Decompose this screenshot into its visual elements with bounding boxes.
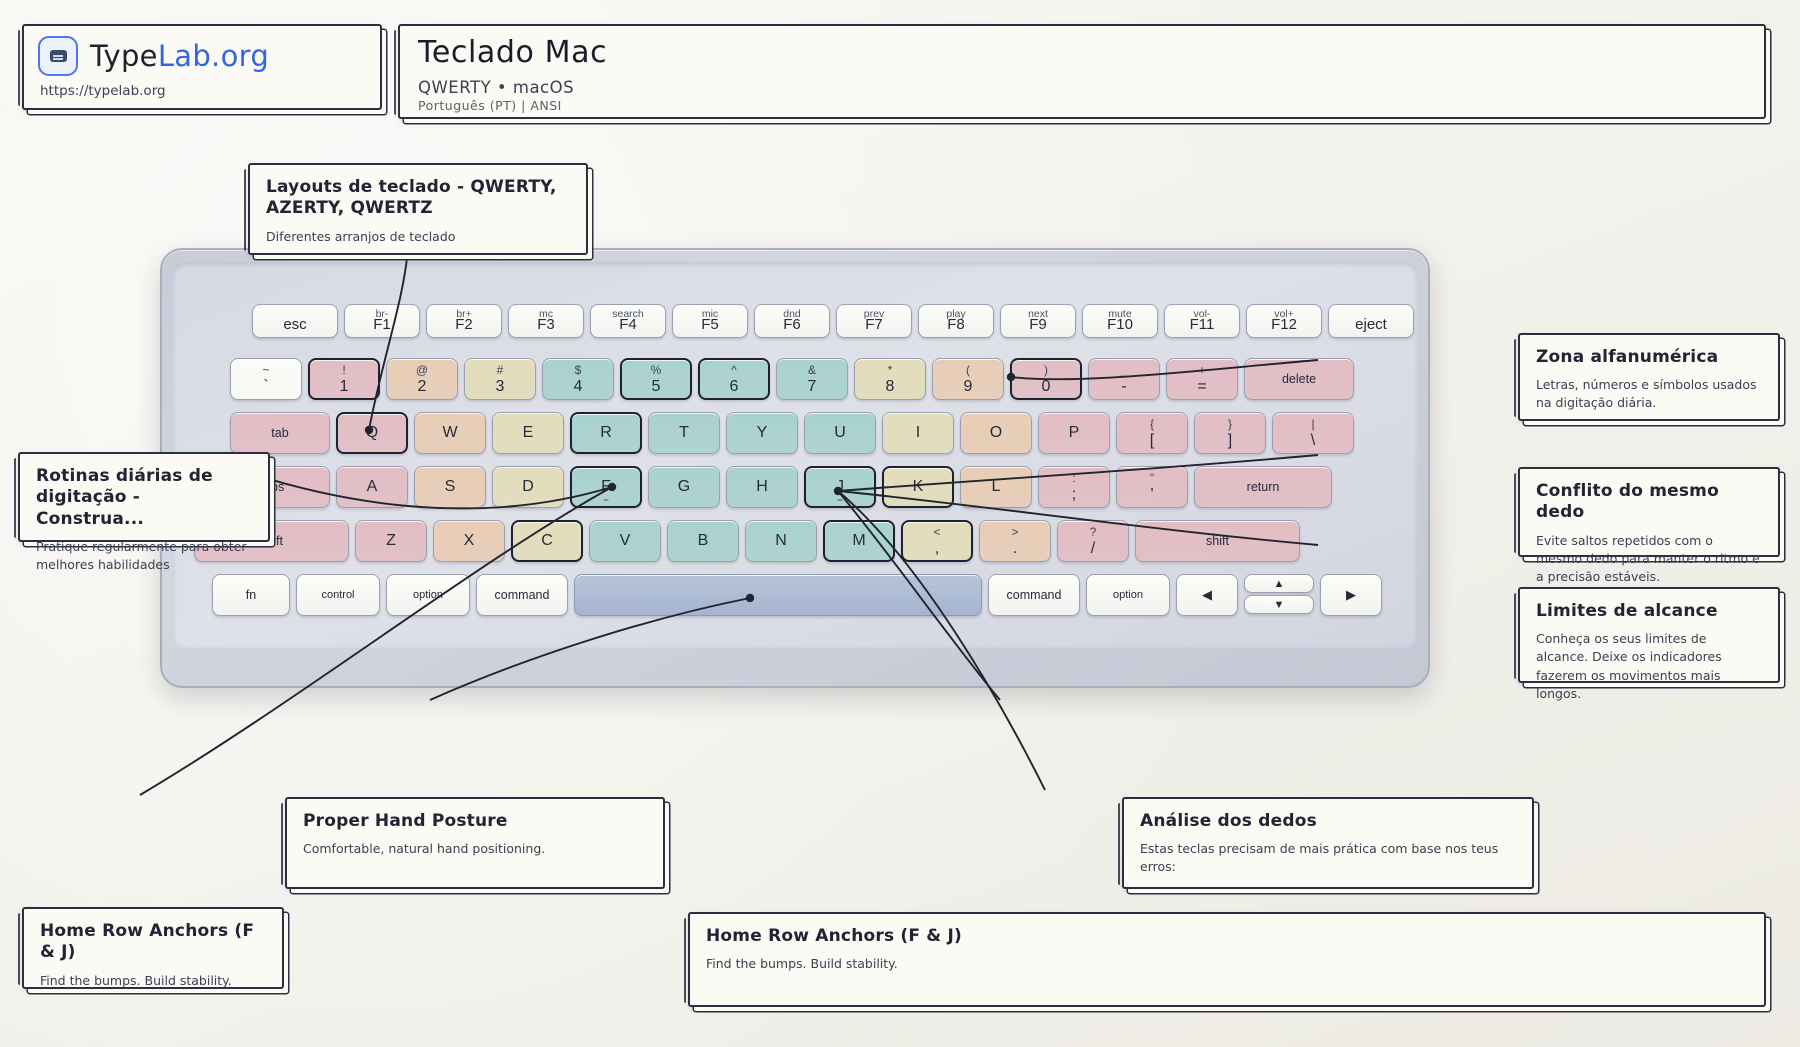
callout-analise: Análise dos dedos Estas teclas precisam …	[1122, 797, 1534, 889]
key--[interactable]: |\	[1272, 412, 1354, 454]
key-y[interactable]: Y	[726, 412, 798, 454]
keyboard-deck: escbr-F1br+F2mcF3searchF4micF5dndF6prevF…	[172, 262, 1418, 648]
key-legend-upper: #	[497, 364, 504, 376]
callout-posture: Proper Hand Posture Comfortable, natural…	[285, 797, 665, 889]
key-legend: J	[836, 478, 844, 496]
brand-name-accent: Lab.org	[158, 39, 269, 73]
key-legend: M	[852, 532, 865, 550]
key-legend: H	[756, 478, 768, 496]
fkey-f8[interactable]: playF8	[918, 304, 994, 338]
callout-zona: Zona alfanumérica Letras, números e símb…	[1518, 333, 1780, 421]
callout-conflito: Conflito do mesmo dedo Evite saltos repe…	[1518, 467, 1780, 557]
brand-url[interactable]: https://typelab.org	[40, 83, 366, 99]
callout-title: Layouts de teclado - QWERTY, AZERTY, QWE…	[266, 177, 570, 220]
key-2[interactable]: @2	[386, 358, 458, 400]
key-legend: F	[601, 478, 611, 496]
key--[interactable]: <,	[901, 520, 973, 562]
arrow-up-icon[interactable]: ▲	[1244, 574, 1314, 593]
key-legend-lower: .	[1013, 541, 1017, 557]
key-8[interactable]: *8	[854, 358, 926, 400]
callout-title: Limites de alcance	[1536, 601, 1762, 622]
header-card: Teclado Mac QWERTY • macOS Português (PT…	[398, 24, 1766, 119]
callout-title: Zona alfanumérica	[1536, 347, 1762, 368]
key-legend-lower: `	[263, 379, 268, 395]
fkey-function-label: mute	[1083, 308, 1157, 320]
key-legend-upper: (	[966, 364, 970, 376]
fkey-function-label: br+	[427, 308, 501, 320]
callout-body: Find the bumps. Build stability.	[706, 955, 1748, 973]
key-legend-upper: *	[888, 364, 893, 376]
key-n[interactable]: N	[745, 520, 817, 562]
key-l[interactable]: L	[960, 466, 1032, 508]
key-legend: command	[1007, 588, 1062, 602]
key-x[interactable]: X	[433, 520, 505, 562]
key-legend-upper: _	[1121, 364, 1128, 376]
key-d[interactable]: D	[492, 466, 564, 508]
fkey-esc[interactable]: esc	[252, 304, 338, 338]
key-r[interactable]: R	[570, 412, 642, 454]
key-legend-upper: )	[1044, 364, 1048, 376]
key-legend-lower: 4	[574, 379, 583, 395]
key-legend-upper: }	[1228, 418, 1232, 430]
key--[interactable]: "'	[1116, 466, 1188, 508]
key-legend-lower: =	[1197, 379, 1206, 395]
brand-name-dark: Type	[90, 39, 158, 73]
key-legend: I	[916, 424, 920, 442]
key-f[interactable]: F	[570, 466, 642, 508]
fkey-function-label: play	[919, 308, 993, 320]
poster-canvas: TypeLab.org https://typelab.org Teclado …	[0, 0, 1800, 1047]
function-key-row: escbr-F1br+F2mcF3searchF4micF5dndF6prevF…	[172, 304, 1420, 338]
key-legend-upper: ~	[262, 364, 269, 376]
key-c[interactable]: C	[511, 520, 583, 562]
fkey-function-label: dnd	[755, 308, 829, 320]
key-legend-upper: :	[1072, 472, 1075, 484]
key-v[interactable]: V	[589, 520, 661, 562]
brand-card: TypeLab.org https://typelab.org	[22, 24, 382, 110]
key-legend-lower: '	[1150, 487, 1153, 503]
key-legend-lower: \	[1311, 433, 1315, 449]
key-legend: N	[775, 532, 787, 550]
key-9[interactable]: (9	[932, 358, 1004, 400]
key-legend: B	[698, 532, 709, 550]
key-legend-upper: %	[651, 364, 662, 376]
key-legend-lower: 7	[808, 379, 817, 395]
key-legend: O	[990, 424, 1002, 442]
key-legend-lower: -	[1121, 379, 1126, 395]
key-t[interactable]: T	[648, 412, 720, 454]
key-legend: G	[678, 478, 690, 496]
callout-layouts: Layouts de teclado - QWERTY, AZERTY, QWE…	[248, 163, 588, 255]
shift-key-row: shiftZXCVBNM<,>.?/shift	[172, 520, 1306, 562]
key-w[interactable]: W	[414, 412, 486, 454]
fkey-f2[interactable]: br+F2	[426, 304, 502, 338]
key-legend: K	[913, 478, 924, 496]
key-legend: command	[495, 588, 550, 602]
key-7[interactable]: &7	[776, 358, 848, 400]
callout-body: Find the bumps. Build stability.	[40, 972, 266, 990]
key-legend: ▼	[1274, 599, 1285, 611]
key-shift[interactable]: shift	[1135, 520, 1300, 562]
key-0[interactable]: )0	[1010, 358, 1082, 400]
key-5[interactable]: %5	[620, 358, 692, 400]
fkey-function-label: mc	[509, 308, 583, 320]
key-legend: fn	[246, 588, 256, 602]
key-legend-upper: >	[1011, 526, 1018, 538]
key-s[interactable]: S	[414, 466, 486, 508]
key-legend-lower: 1	[340, 379, 349, 395]
key-legend: E	[523, 424, 534, 442]
key-h[interactable]: H	[726, 466, 798, 508]
fkey-label: esc	[283, 316, 306, 333]
key-legend-upper: $	[575, 364, 582, 376]
key-legend: R	[600, 424, 612, 442]
key-legend: P	[1069, 424, 1080, 442]
key-1[interactable]: !1	[308, 358, 380, 400]
header-subtitle: QWERTY • macOS	[418, 78, 1746, 97]
arrow-cluster-vertical: ▲▼	[1244, 574, 1314, 616]
fkey-function-label: vol+	[1247, 308, 1321, 320]
key-legend: W	[442, 424, 457, 442]
callout-body: Diferentes arranjos de teclado	[266, 228, 570, 246]
key-legend-upper: @	[416, 364, 428, 376]
key-legend-lower: [	[1150, 433, 1154, 449]
key-legend-lower: ,	[935, 541, 939, 557]
home-key-row: capsASDFGHJKL:;"'return	[172, 466, 1338, 508]
key-p[interactable]: P	[1038, 412, 1110, 454]
header-meta: Português (PT) | ANSI	[418, 98, 1746, 113]
key-u[interactable]: U	[804, 412, 876, 454]
keyboard-key-icon	[38, 36, 78, 76]
key-return[interactable]: return	[1194, 466, 1332, 508]
key-legend: delete	[1282, 372, 1316, 386]
key--[interactable]: ~`	[230, 358, 302, 400]
key-legend: ▶	[1346, 587, 1356, 603]
key-legend: control	[321, 589, 354, 601]
key-legend: D	[522, 478, 534, 496]
key-legend: V	[620, 532, 631, 550]
fkey-function-label: br-	[345, 308, 419, 320]
key-legend: option	[413, 589, 443, 601]
key-a[interactable]: A	[336, 466, 408, 508]
key-g[interactable]: G	[648, 466, 720, 508]
key-legend: S	[445, 478, 456, 496]
number-key-row: ~`!1@2#3$4%5^6&7*8(9)0_-+=delete	[172, 358, 1360, 400]
key-o[interactable]: O	[960, 412, 1032, 454]
key-option[interactable]: option	[1086, 574, 1170, 616]
key-legend-lower: ;	[1072, 487, 1076, 503]
callout-title: Conflito do mesmo dedo	[1536, 481, 1762, 524]
key-option[interactable]: option	[386, 574, 470, 616]
callout-title: Proper Hand Posture	[303, 811, 647, 832]
key-legend: ▲	[1274, 578, 1285, 590]
fkey-function-label: search	[591, 308, 665, 320]
key-legend: C	[541, 532, 553, 550]
key-b[interactable]: B	[667, 520, 739, 562]
keyboard-chassis: escbr-F1br+F2mcF3searchF4micF5dndF6prevF…	[160, 248, 1430, 688]
key-legend: Q	[366, 424, 378, 442]
fkey-f9[interactable]: nextF9	[1000, 304, 1076, 338]
arrow-down-icon[interactable]: ▼	[1244, 595, 1314, 614]
key-legend-lower: /	[1091, 541, 1095, 557]
key--[interactable]: :;	[1038, 466, 1110, 508]
key-legend-upper: "	[1150, 472, 1154, 484]
key-legend: option	[1113, 589, 1143, 601]
key-legend: Z	[386, 532, 396, 550]
key-legend-lower: 8	[886, 379, 895, 395]
callout-anchors-left: Home Row Anchors (F & J) Find the bumps.…	[22, 907, 284, 989]
key-legend-upper: &	[808, 364, 816, 376]
fkey-function-label: next	[1001, 308, 1075, 320]
fkey-f6[interactable]: dndF6	[754, 304, 830, 338]
key-legend-upper: ?	[1090, 526, 1097, 538]
key-legend-upper: ^	[731, 364, 737, 376]
home-row-bump	[604, 499, 609, 501]
callout-body: Conheça os seus limites de alcance. Deix…	[1536, 630, 1762, 703]
key-z[interactable]: Z	[355, 520, 427, 562]
key--[interactable]: ?/	[1057, 520, 1129, 562]
page-title: Teclado Mac	[418, 35, 1746, 70]
key-3[interactable]: #3	[464, 358, 536, 400]
callout-title: Home Row Anchors (F & J)	[706, 926, 1748, 947]
key-4[interactable]: $4	[542, 358, 614, 400]
fkey-f7[interactable]: prevF7	[836, 304, 912, 338]
key-e[interactable]: E	[492, 412, 564, 454]
key-legend: L	[992, 478, 1001, 496]
callout-title: Home Row Anchors (F & J)	[40, 921, 266, 964]
key-legend: T	[679, 424, 689, 442]
key-legend-lower: 9	[964, 379, 973, 395]
arrow-right-icon[interactable]: ▶	[1320, 574, 1382, 616]
key-k[interactable]: K	[882, 466, 954, 508]
key-legend-lower: 6	[730, 379, 739, 395]
key-m[interactable]: M	[823, 520, 895, 562]
key-legend: shift	[1206, 534, 1229, 548]
key--[interactable]: {[	[1116, 412, 1188, 454]
key-legend-upper: +	[1198, 364, 1205, 376]
key-legend-lower: 2	[418, 379, 427, 395]
callout-body: Evite saltos repetidos com o mesmo dedo …	[1536, 532, 1762, 586]
key-j[interactable]: J	[804, 466, 876, 508]
key-legend-upper: {	[1150, 418, 1154, 430]
fkey-function-label: vol-	[1165, 308, 1239, 320]
key-legend-lower: ]	[1228, 433, 1232, 449]
callout-body: Estas teclas precisam de mais prática co…	[1140, 840, 1516, 876]
callout-body: Letras, números e símbolos usados na dig…	[1536, 376, 1762, 412]
key-fn[interactable]: fn	[212, 574, 290, 616]
fkey-f4[interactable]: searchF4	[590, 304, 666, 338]
key-6[interactable]: ^6	[698, 358, 770, 400]
key-delete[interactable]: delete	[1244, 358, 1354, 400]
fkey-f12[interactable]: vol+F12	[1246, 304, 1322, 338]
fkey-eject[interactable]: eject	[1328, 304, 1414, 338]
key-space[interactable]	[574, 574, 982, 616]
fkey-f3[interactable]: mcF3	[508, 304, 584, 338]
key-legend: X	[464, 532, 475, 550]
key-legend: ◀	[1202, 587, 1212, 603]
key-legend: U	[834, 424, 846, 442]
callout-body: Pratique regularmente para obter melhore…	[36, 538, 252, 574]
fkey-f5[interactable]: micF5	[672, 304, 748, 338]
key--[interactable]: ◀	[1176, 574, 1238, 616]
key-legend-lower: 0	[1042, 379, 1051, 395]
key-legend-upper: !	[342, 364, 345, 376]
callout-body: Comfortable, natural hand positioning.	[303, 840, 647, 858]
key--[interactable]: }]	[1194, 412, 1266, 454]
fkey-f1[interactable]: br-F1	[344, 304, 420, 338]
key-legend-lower: 5	[652, 379, 661, 395]
fkey-f10[interactable]: muteF10	[1082, 304, 1158, 338]
callout-anchors-bottom: Home Row Anchors (F & J) Find the bumps.…	[688, 912, 1766, 1007]
top-letter-row: tabQWERTYUIOP{[}]|\	[172, 412, 1360, 454]
brand-name: TypeLab.org	[90, 39, 269, 73]
key-tab[interactable]: tab	[230, 412, 330, 454]
key-command[interactable]: command	[476, 574, 568, 616]
fkey-f11[interactable]: vol-F11	[1164, 304, 1240, 338]
key-legend-lower: 3	[496, 379, 505, 395]
fkey-function-label: mic	[673, 308, 747, 320]
fkey-function-label: prev	[837, 308, 911, 320]
key-i[interactable]: I	[882, 412, 954, 454]
fkey-label: eject	[1355, 316, 1387, 333]
key--[interactable]: >.	[979, 520, 1051, 562]
callout-limites: Limites de alcance Conheça os seus limit…	[1518, 587, 1780, 683]
key-legend-upper: <	[933, 526, 940, 538]
callout-title: Rotinas diárias de digitação - Construa.…	[36, 466, 252, 530]
key-legend: A	[367, 478, 378, 496]
modifier-key-row: fncontroloptioncommandcommandoption◀▲▼▶	[172, 574, 1388, 616]
key-q[interactable]: Q	[336, 412, 408, 454]
key-command[interactable]: command	[988, 574, 1080, 616]
key--[interactable]: +=	[1166, 358, 1238, 400]
home-row-bump	[838, 499, 843, 501]
callout-title: Análise dos dedos	[1140, 811, 1516, 832]
key-control[interactable]: control	[296, 574, 380, 616]
key-legend-upper: |	[1311, 418, 1314, 430]
key--[interactable]: _-	[1088, 358, 1160, 400]
key-legend: return	[1247, 480, 1280, 494]
callout-rotinas: Rotinas diárias de digitação - Construa.…	[18, 452, 270, 542]
key-legend: tab	[271, 426, 288, 440]
key-legend: Y	[757, 424, 768, 442]
